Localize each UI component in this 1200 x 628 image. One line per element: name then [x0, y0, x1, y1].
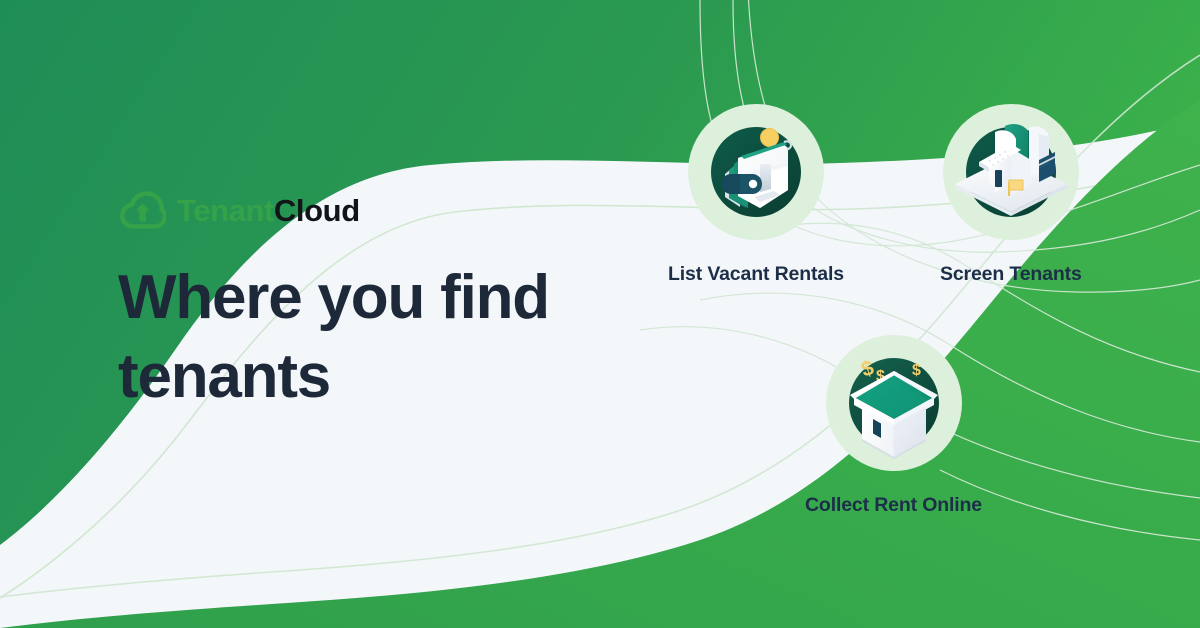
page-title: Where you find tenants [118, 258, 638, 417]
feature-label: List Vacant Rentals [668, 263, 844, 286]
feature-item-list-vacant-rentals[interactable]: List Vacant Rentals [668, 104, 844, 286]
feature-item-collect-rent-online[interactable]: $ $ $ [805, 335, 982, 517]
feature-icon-circle: $ $ $ [826, 335, 962, 471]
feature-label: Collect Rent Online [805, 494, 982, 517]
feature-icon-circle [688, 104, 824, 240]
brand-name-part1: Tenant [177, 193, 274, 228]
feature-label: Screen Tenants [940, 263, 1082, 286]
house-isometric-icon [943, 104, 1079, 240]
feature-icon-circle [943, 104, 1079, 240]
brand-logo[interactable]: TenantCloud [120, 186, 360, 234]
cloud-arrow-icon [120, 190, 166, 230]
promo-banner: TenantCloud Where you find tenants [0, 0, 1200, 628]
wallet-key-icon [688, 104, 824, 240]
house-money-icon: $ $ $ [826, 335, 962, 471]
svg-text:$: $ [912, 362, 921, 379]
feature-item-screen-tenants[interactable]: Screen Tenants [940, 104, 1082, 286]
brand-wordmark: TenantCloud [177, 195, 360, 226]
brand-name-part2: Cloud [274, 193, 360, 228]
